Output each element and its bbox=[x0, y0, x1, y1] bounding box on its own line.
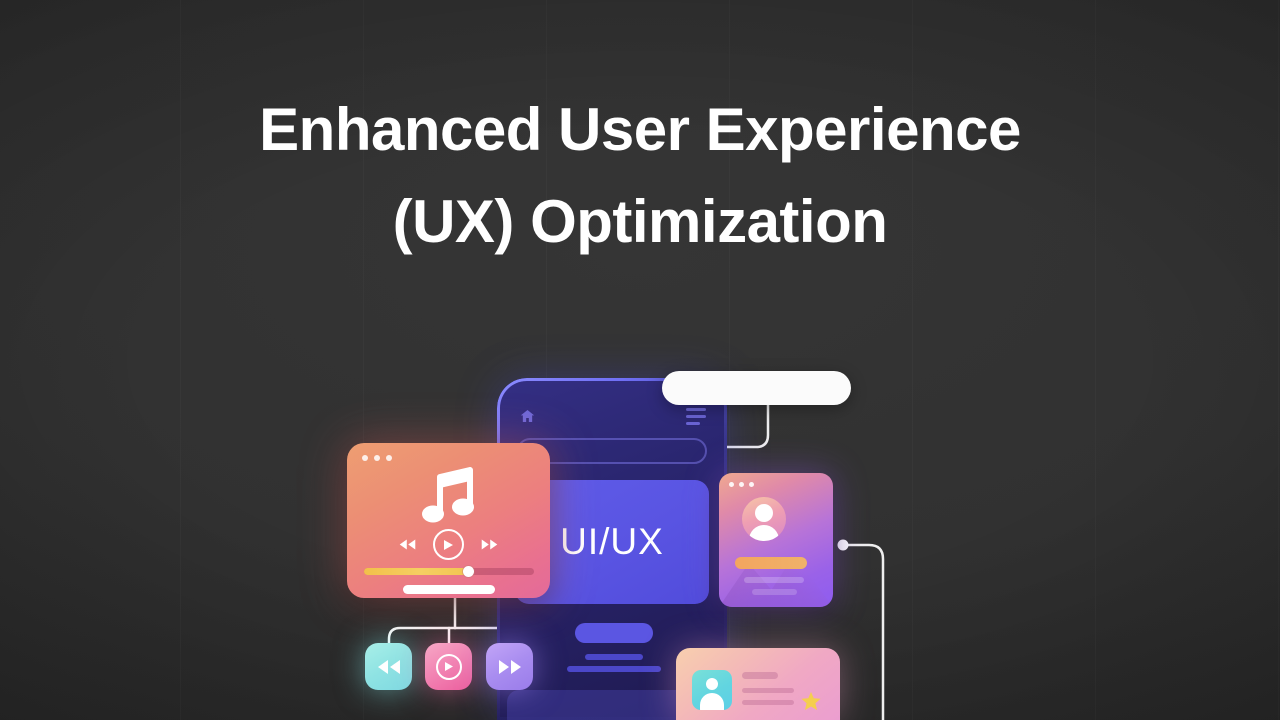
fast-forward-icon[interactable] bbox=[481, 538, 498, 551]
contact-text-line bbox=[742, 672, 778, 679]
home-icon[interactable] bbox=[519, 408, 536, 424]
window-dots bbox=[729, 482, 754, 487]
window-dot bbox=[729, 482, 734, 487]
floating-search-bar[interactable] bbox=[662, 371, 851, 405]
window-dot bbox=[362, 455, 368, 461]
forward-button[interactable] bbox=[486, 643, 533, 690]
phone-cta-button[interactable] bbox=[575, 623, 653, 643]
play-button[interactable] bbox=[425, 643, 472, 690]
window-dot bbox=[374, 455, 380, 461]
user-avatar-icon bbox=[742, 497, 786, 541]
user-avatar-icon bbox=[692, 670, 732, 710]
music-transport-controls bbox=[347, 529, 550, 560]
avatar-body bbox=[749, 525, 779, 541]
phone-text-line bbox=[585, 654, 643, 660]
play-button[interactable] bbox=[433, 529, 464, 560]
page-title-line-2: (UX) Optimization bbox=[0, 176, 1280, 268]
play-icon bbox=[444, 661, 454, 672]
rewind-icon[interactable] bbox=[399, 538, 416, 551]
window-dot bbox=[739, 482, 744, 487]
menu-line bbox=[686, 415, 706, 418]
progress-bar-fill bbox=[364, 568, 468, 575]
hamburger-menu-icon[interactable] bbox=[686, 408, 706, 429]
avatar-head bbox=[706, 678, 718, 690]
search-input[interactable] bbox=[662, 381, 839, 395]
rewind-icon bbox=[377, 658, 401, 676]
menu-line bbox=[686, 422, 700, 425]
profile-card bbox=[719, 473, 833, 607]
profile-text-line bbox=[752, 589, 797, 595]
fast-forward-icon bbox=[498, 658, 522, 676]
music-player-card bbox=[347, 443, 550, 598]
contact-text-line bbox=[742, 700, 794, 705]
menu-line bbox=[686, 408, 706, 411]
star-icon bbox=[800, 690, 822, 712]
contact-text-line bbox=[742, 688, 794, 693]
window-dot bbox=[749, 482, 754, 487]
progress-bar-knob[interactable] bbox=[463, 566, 474, 577]
window-dots bbox=[362, 455, 392, 461]
rewind-button[interactable] bbox=[365, 643, 412, 690]
phone-text-line bbox=[567, 666, 661, 672]
page-title: Enhanced User Experience (UX) Optimizati… bbox=[0, 84, 1280, 268]
music-note-icon bbox=[422, 467, 476, 527]
profile-text-line bbox=[744, 577, 804, 583]
window-dot bbox=[386, 455, 392, 461]
contact-card bbox=[676, 648, 840, 720]
music-card-footer-bar bbox=[403, 585, 495, 594]
page-title-line-1: Enhanced User Experience bbox=[0, 84, 1280, 176]
uiux-label: UI/UX bbox=[560, 521, 664, 563]
progress-bar[interactable] bbox=[364, 568, 534, 575]
play-circle-icon bbox=[436, 654, 462, 680]
avatar-head bbox=[755, 504, 773, 522]
play-icon bbox=[443, 539, 454, 551]
avatar-body bbox=[700, 693, 724, 710]
profile-action-button[interactable] bbox=[735, 557, 807, 569]
